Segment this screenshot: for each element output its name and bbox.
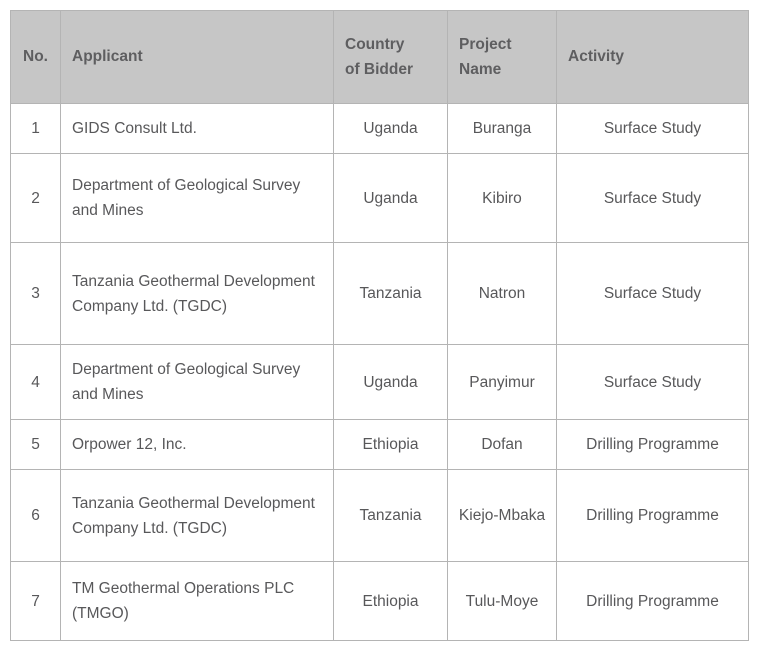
table-row: 5 Orpower 12, Inc. Ethiopia Dofan Drilli… [11, 420, 749, 470]
header-row: No. Applicant Country of Bidder Project … [11, 11, 749, 104]
cell-project-name: Natron [448, 243, 557, 345]
cell-country: Ethiopia [334, 562, 448, 641]
cell-country: Ethiopia [334, 420, 448, 470]
cell-activity: Surface Study [557, 243, 749, 345]
cell-project-name: Kibiro [448, 154, 557, 243]
column-header-no: No. [11, 11, 61, 104]
table-header: No. Applicant Country of Bidder Project … [11, 11, 749, 104]
cell-no: 1 [11, 104, 61, 154]
cell-project-name: Kiejo-Mbaka [448, 470, 557, 562]
table-row: 2 Department of Geological Survey and Mi… [11, 154, 749, 243]
cell-applicant: Tanzania Geothermal Development Company … [61, 470, 334, 562]
cell-applicant: Orpower 12, Inc. [61, 420, 334, 470]
cell-activity: Surface Study [557, 104, 749, 154]
applicants-table-container: No. Applicant Country of Bidder Project … [10, 10, 748, 641]
cell-country: Uganda [334, 104, 448, 154]
cell-activity: Drilling Programme [557, 470, 749, 562]
cell-no: 2 [11, 154, 61, 243]
cell-activity: Drilling Programme [557, 420, 749, 470]
column-header-project-line2: Name [459, 61, 501, 78]
table-row: 3 Tanzania Geothermal Development Compan… [11, 243, 749, 345]
cell-activity: Surface Study [557, 345, 749, 420]
column-header-applicant: Applicant [61, 11, 334, 104]
cell-no: 7 [11, 562, 61, 641]
cell-applicant: GIDS Consult Ltd. [61, 104, 334, 154]
cell-country: Uganda [334, 345, 448, 420]
cell-no: 5 [11, 420, 61, 470]
cell-activity: Drilling Programme [557, 562, 749, 641]
column-header-project-line1: Project [459, 36, 512, 53]
cell-country: Tanzania [334, 470, 448, 562]
cell-project-name: Tulu-Moye [448, 562, 557, 641]
column-header-country-line1: Country [345, 36, 404, 53]
cell-applicant: TM Geothermal Operations PLC (TMGO) [61, 562, 334, 641]
column-header-country-line2: of Bidder [345, 61, 413, 78]
cell-no: 3 [11, 243, 61, 345]
cell-project-name: Dofan [448, 420, 557, 470]
column-header-country-of-bidder: Country of Bidder [334, 11, 448, 104]
cell-applicant: Department of Geological Survey and Mine… [61, 154, 334, 243]
cell-no: 4 [11, 345, 61, 420]
applicants-table: No. Applicant Country of Bidder Project … [10, 10, 749, 641]
cell-country: Uganda [334, 154, 448, 243]
cell-applicant: Tanzania Geothermal Development Company … [61, 243, 334, 345]
cell-activity: Surface Study [557, 154, 749, 243]
table-row: 6 Tanzania Geothermal Development Compan… [11, 470, 749, 562]
cell-country: Tanzania [334, 243, 448, 345]
table-row: 1 GIDS Consult Ltd. Uganda Buranga Surfa… [11, 104, 749, 154]
column-header-activity: Activity [557, 11, 749, 104]
cell-project-name: Buranga [448, 104, 557, 154]
cell-applicant: Department of Geological Survey and Mine… [61, 345, 334, 420]
cell-project-name: Panyimur [448, 345, 557, 420]
column-header-project-name: Project Name [448, 11, 557, 104]
table-row: 7 TM Geothermal Operations PLC (TMGO) Et… [11, 562, 749, 641]
table-body: 1 GIDS Consult Ltd. Uganda Buranga Surfa… [11, 104, 749, 641]
cell-no: 6 [11, 470, 61, 562]
table-row: 4 Department of Geological Survey and Mi… [11, 345, 749, 420]
